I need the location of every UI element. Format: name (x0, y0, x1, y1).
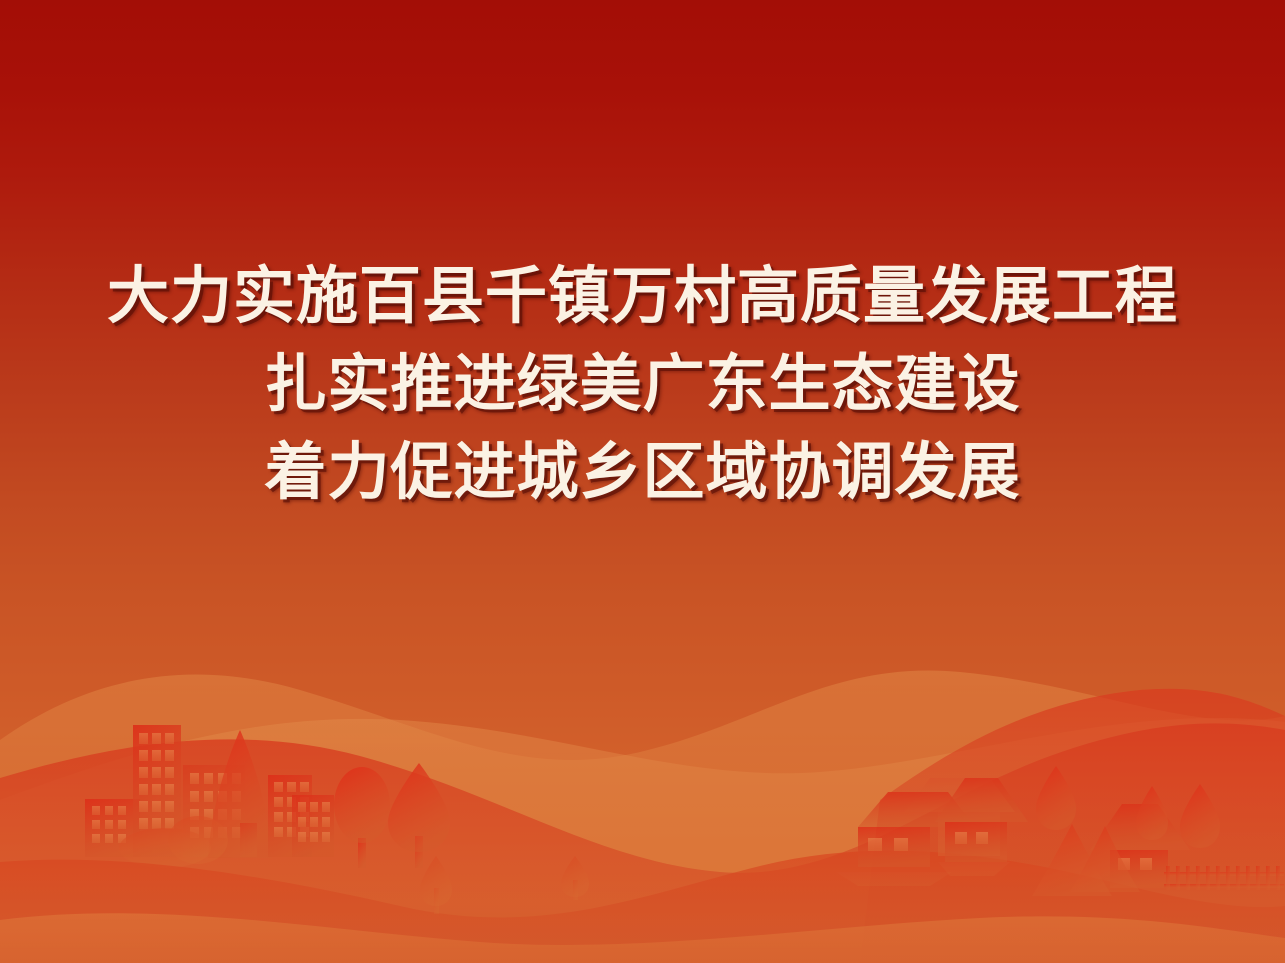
title-line-2: 扎实推进绿美广东生态建设 (0, 341, 1285, 429)
building-stub (240, 823, 257, 857)
building-5 (292, 795, 334, 857)
slide-title-block: 大力实施百县千镇万村高质量发展工程 扎实推进绿美广东生态建设 着力促进城乡区域协… (0, 253, 1285, 517)
title-line-1: 大力实施百县千镇万村高质量发展工程 (0, 253, 1285, 341)
slide-canvas: 大力实施百县千镇万村高质量发展工程 扎实推进绿美广东生态建设 着力促进城乡区域协… (0, 0, 1285, 963)
title-line-3: 着力促进城乡区域协调发展 (0, 429, 1285, 517)
